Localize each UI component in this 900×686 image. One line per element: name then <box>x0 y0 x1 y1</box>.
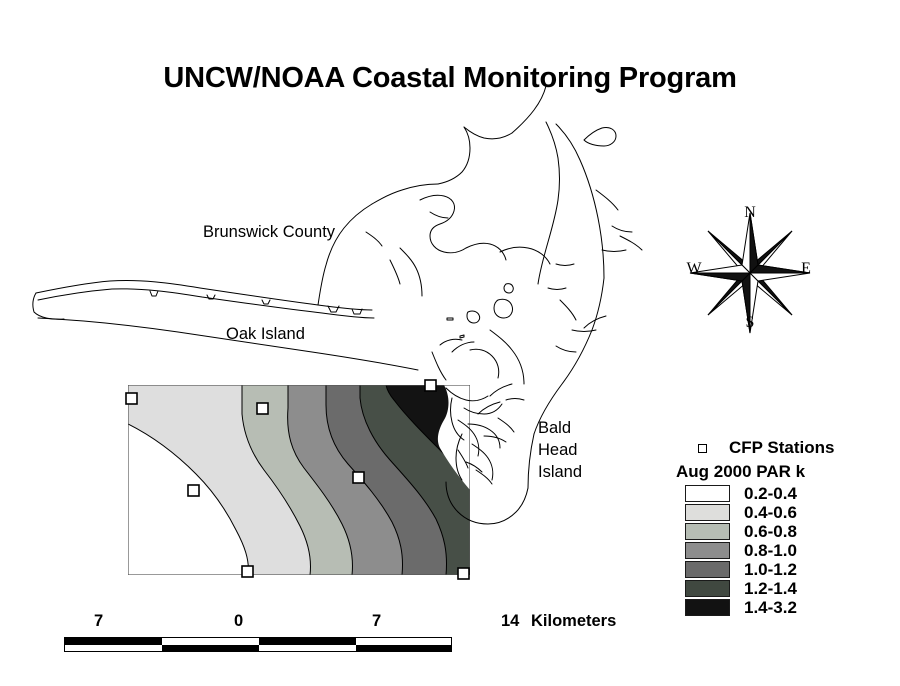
legend-row: 0.2-0.4 <box>676 485 896 503</box>
legend-range-label: 1.4-3.2 <box>744 598 797 618</box>
legend-swatch <box>685 580 730 597</box>
legend-range-label: 0.6-0.8 <box>744 522 797 542</box>
scale-tick-label: 7 <box>94 612 103 631</box>
legend-row: 0.4-0.6 <box>676 504 896 522</box>
legend-stations-label: CFP Stations <box>729 438 834 458</box>
open-square-marker-icon <box>698 444 707 453</box>
legend-class-list: 0.2-0.40.4-0.60.6-0.80.8-1.01.0-1.21.2-1… <box>676 485 896 617</box>
legend-range-label: 0.4-0.6 <box>744 503 797 523</box>
legend-swatch <box>685 523 730 540</box>
legend-range-label: 1.0-1.2 <box>744 560 797 580</box>
legend-swatch <box>685 561 730 578</box>
label-brunswick-county: Brunswick County <box>203 222 335 244</box>
legend-title: Aug 2000 PAR k <box>676 462 896 482</box>
station-marker[interactable] <box>425 380 436 391</box>
compass-rose: N S W E <box>684 204 816 342</box>
legend-stations-row: CFP Stations <box>676 438 896 461</box>
legend-range-label: 0.2-0.4 <box>744 484 797 504</box>
scale-units-label: Kilometers <box>531 612 616 631</box>
map-page: UNCW/NOAA Coastal Monitoring Program <box>0 0 900 686</box>
scale-tick-label: 0 <box>234 612 243 631</box>
compass-west-label: W <box>684 260 704 278</box>
legend-range-label: 1.2-1.4 <box>744 579 797 599</box>
legend-swatch <box>685 504 730 521</box>
station-marker[interactable] <box>188 485 199 496</box>
station-marker[interactable] <box>257 403 268 414</box>
label-bald-head-island: Bald Head Island <box>538 418 582 483</box>
station-marker[interactable] <box>242 566 253 577</box>
legend-row: 1.0-1.2 <box>676 561 896 579</box>
compass-east-label: E <box>796 260 816 278</box>
compass-north-label: N <box>740 204 760 222</box>
scale-tick-label: 7 <box>372 612 381 631</box>
label-oak-island: Oak Island <box>226 324 305 346</box>
map-legend: CFP Stations Aug 2000 PAR k 0.2-0.40.4-0… <box>676 438 896 618</box>
legend-row: 1.2-1.4 <box>676 580 896 598</box>
station-marker[interactable] <box>126 393 137 404</box>
scale-bar-graphic <box>64 637 452 652</box>
legend-swatch <box>685 542 730 559</box>
scale-bar: 7 0 7 14 Kilometers <box>64 612 624 656</box>
legend-range-label: 0.8-1.0 <box>744 541 797 561</box>
legend-row: 1.4-3.2 <box>676 599 896 617</box>
legend-swatch <box>685 485 730 502</box>
station-marker[interactable] <box>353 472 364 483</box>
station-marker[interactable] <box>458 568 469 579</box>
legend-swatch <box>685 599 730 616</box>
scale-tick-label: 14 <box>501 612 519 631</box>
legend-row: 0.8-1.0 <box>676 542 896 560</box>
compass-south-label: S <box>740 314 760 332</box>
contour-bands <box>128 385 470 575</box>
legend-row: 0.6-0.8 <box>676 523 896 541</box>
